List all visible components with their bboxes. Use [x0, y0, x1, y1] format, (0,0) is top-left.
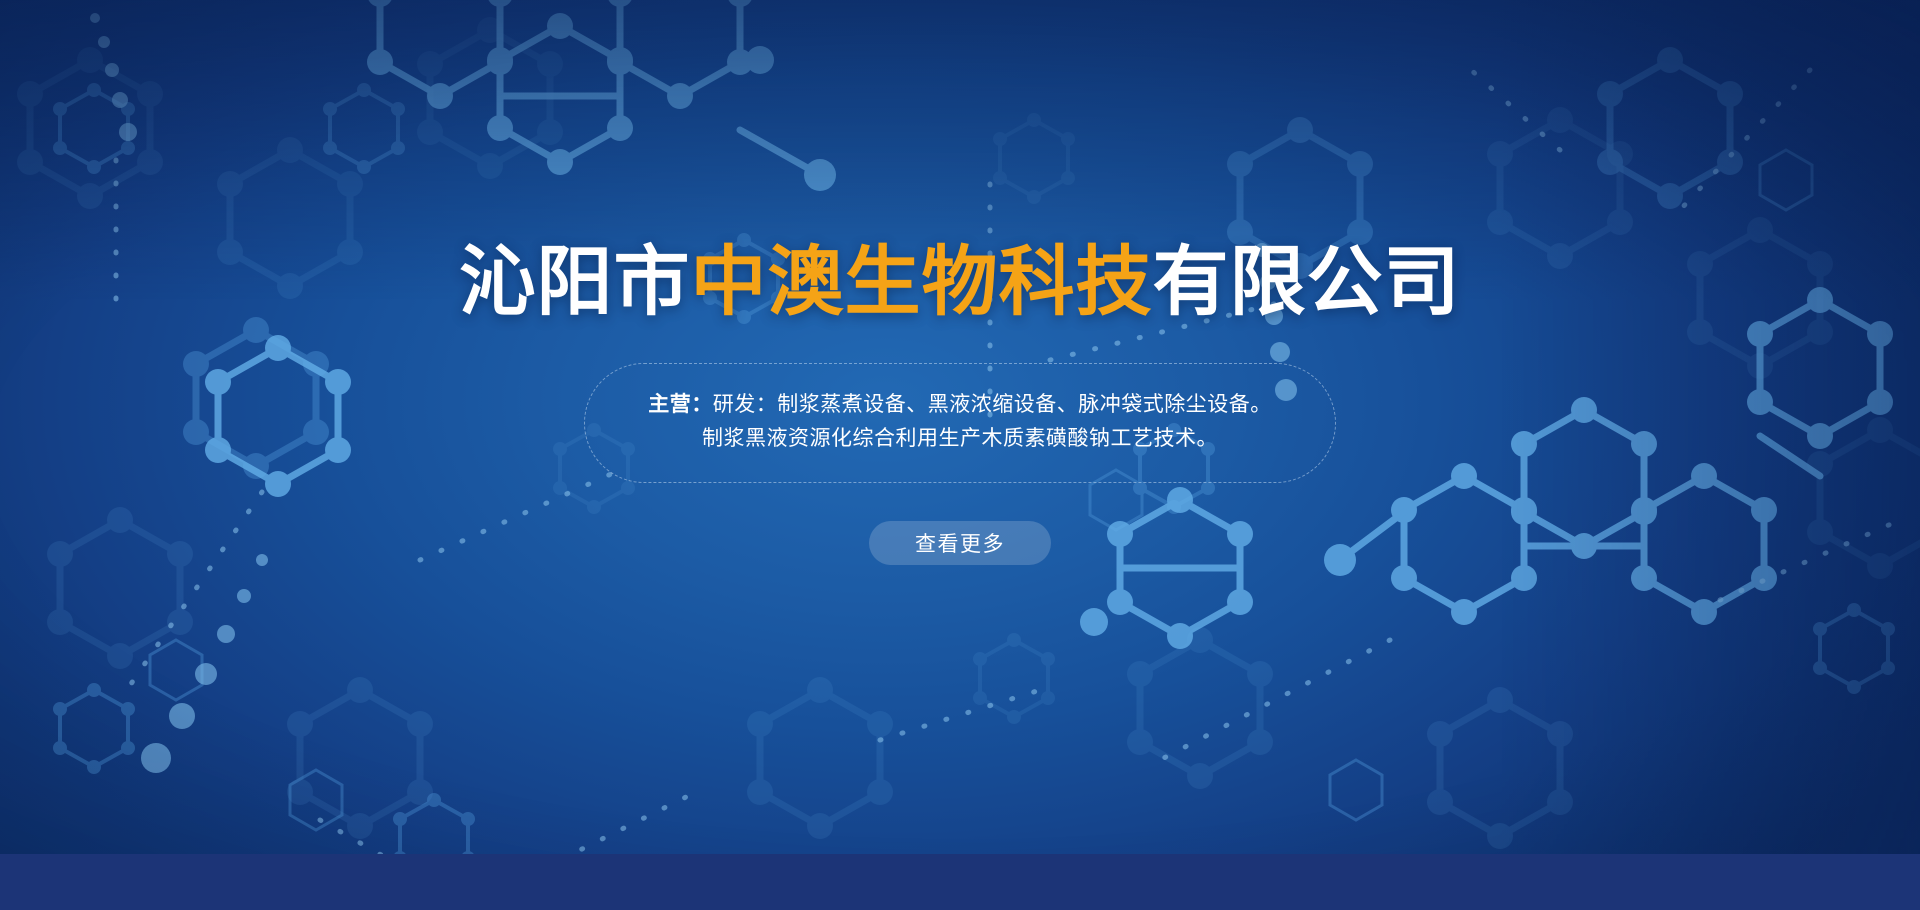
- tagline-lead-label: 主营：: [648, 393, 713, 416]
- page-title: 沁阳市中澳生物科技有限公司: [460, 245, 1461, 321]
- hero-content: 沁阳市中澳生物科技有限公司 主营：研发：制浆蒸煮设备、黑液浓缩设备、脉冲袋式除尘…: [0, 0, 1920, 856]
- page-title-highlight: 中澳生物科技: [691, 240, 1153, 325]
- bottom-bar: [0, 854, 1920, 910]
- tagline-line-1-text: 研发：制浆蒸煮设备、黑液浓缩设备、脉冲袋式除尘设备。: [713, 393, 1272, 416]
- page-title-prefix: 沁阳市: [460, 240, 691, 325]
- tagline-box: 主营：研发：制浆蒸煮设备、黑液浓缩设备、脉冲袋式除尘设备。 制浆黑液资源化综合利…: [584, 363, 1336, 483]
- tagline-line-2: 制浆黑液资源化综合利用生产木质素磺酸钠工艺技术。: [645, 422, 1275, 456]
- view-more-button[interactable]: 查看更多: [869, 521, 1051, 565]
- hero-banner: 沁阳市中澳生物科技有限公司 主营：研发：制浆蒸煮设备、黑液浓缩设备、脉冲袋式除尘…: [0, 0, 1920, 910]
- page-title-suffix: 有限公司: [1153, 240, 1461, 325]
- tagline-line-1: 主营：研发：制浆蒸煮设备、黑液浓缩设备、脉冲袋式除尘设备。: [645, 388, 1275, 422]
